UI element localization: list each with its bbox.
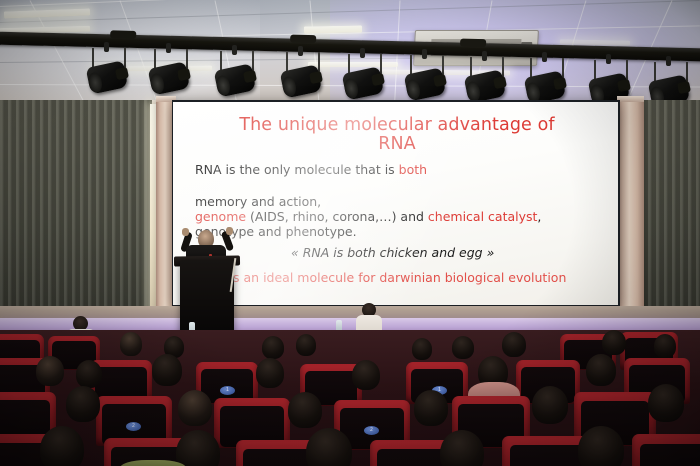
genome-tail: , [537, 209, 541, 224]
attendee-head [352, 360, 380, 390]
attendee-head [648, 384, 684, 422]
quote-text: « RNA is both chicken and egg » [291, 245, 494, 260]
phenotype-text: genotype and phenotype. [195, 224, 357, 239]
slide-line-phenotype: genotype and phenotype. [195, 224, 357, 239]
attendee-head [586, 354, 616, 386]
seat-number: 2 [364, 426, 379, 435]
stage-curtain-left [0, 100, 152, 332]
attendee-head [76, 360, 102, 388]
attendee-head [502, 332, 526, 357]
slide-title-line1: The unique molecular advantage of [239, 115, 554, 135]
attendee-head [578, 426, 624, 466]
slide-line-ideal: RNA is an ideal molecule for darwinian b… [199, 270, 566, 285]
memory-text: memory and action, [195, 194, 321, 209]
stage-curtain-right [640, 100, 700, 332]
attendee-head [452, 336, 474, 359]
attendee-head [414, 390, 448, 426]
seat-number: 1 [220, 386, 235, 395]
attendee-head [36, 356, 64, 386]
attendee-head [40, 426, 84, 466]
catalyst-accent: chemical catalyst [428, 209, 538, 224]
attendee-head [120, 332, 142, 356]
lecture-hall-photo: The unique molecular advantage of RNA RN… [0, 0, 700, 466]
audience-area: 1 1 2 2 3 [0, 330, 700, 466]
intro-accent: both [399, 162, 427, 177]
slide-line-genome: genome (AIDS, rhino, corona,…) and chemi… [195, 209, 541, 224]
seat [632, 434, 700, 466]
slide-line-memory: memory and action, [195, 194, 321, 209]
projection-screen: The unique molecular advantage of RNA RN… [172, 100, 620, 308]
attendee-shoulders [120, 460, 186, 466]
attendee-head [412, 338, 432, 360]
attendee-head [262, 336, 284, 359]
attendee-head [178, 390, 212, 426]
attendee-head [532, 386, 568, 424]
attendee-head [654, 334, 676, 358]
ideal-text: RNA is an ideal molecule for darwinian b… [199, 270, 566, 285]
genome-plain: (AIDS, rhino, corona,…) and [246, 209, 428, 224]
column-right [617, 96, 644, 340]
slide-title-line2: RNA [378, 134, 416, 154]
attendee-head [152, 354, 182, 386]
speaker-hand-left [182, 228, 189, 236]
slide-line-quote: « RNA is both chicken and egg » [291, 245, 494, 260]
slide-title: The unique molecular advantage of RNA [197, 116, 597, 154]
speaker-hand-right [226, 227, 233, 235]
attendee-head [288, 392, 322, 428]
attendee-head [66, 386, 100, 422]
attendee-head [602, 330, 626, 355]
slide-line-intro: RNA is the only molecule that is both [195, 162, 427, 177]
presentation-slide: The unique molecular advantage of RNA RN… [173, 102, 618, 305]
intro-plain: RNA is the only molecule that is [195, 162, 399, 177]
seat-number: 2 [126, 422, 141, 431]
attendee-head [296, 334, 316, 356]
genome-accent: genome [195, 209, 246, 224]
attendee-head [256, 358, 284, 388]
